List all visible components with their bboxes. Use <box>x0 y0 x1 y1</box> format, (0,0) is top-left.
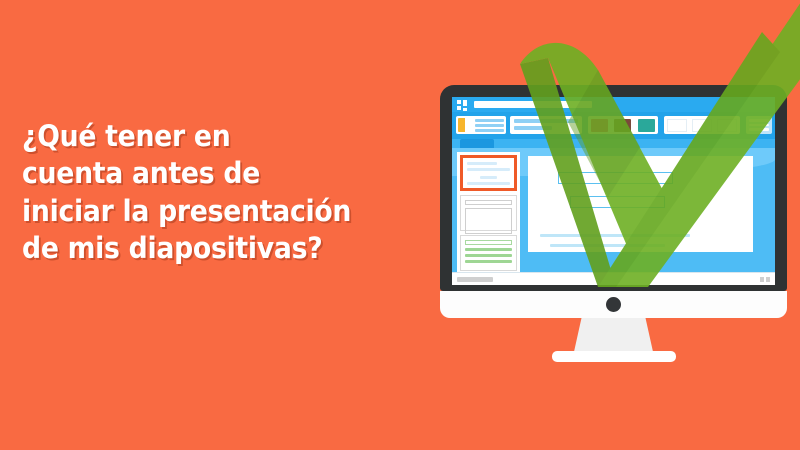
slide-thumbnail-panel[interactable] <box>457 152 520 272</box>
statusbar-view-buttons[interactable] <box>760 277 770 282</box>
slide-layout-button[interactable] <box>456 116 506 134</box>
app-titlebar <box>452 97 775 112</box>
layout-lines-icon <box>475 119 504 132</box>
app-statusbar <box>452 272 775 285</box>
monitor-power-dot <box>606 297 621 312</box>
slide-textbox-1[interactable] <box>558 172 673 184</box>
desktop-monitor-illustration <box>440 85 787 353</box>
poster-canvas: ¿Qué tener en cuenta antes de iniciar la… <box>0 0 800 450</box>
slide-thumbnail-3[interactable] <box>460 235 517 271</box>
titlebar-title-strip <box>474 101 592 108</box>
toolbar-box-2[interactable] <box>692 119 712 132</box>
tab-strip <box>452 139 775 148</box>
slide-line-2 <box>550 244 665 247</box>
side-panel-button[interactable] <box>746 116 772 134</box>
slide-thumbnail-2[interactable] <box>460 195 517 231</box>
monitor-bezel <box>440 85 787 291</box>
tab-active[interactable] <box>460 139 494 148</box>
color-swatch-group[interactable] <box>588 116 658 134</box>
toolbar-text-field[interactable] <box>510 116 582 134</box>
monitor-screen <box>452 97 775 285</box>
monitor-stand-neck <box>574 318 654 354</box>
toolbar-box-3[interactable] <box>717 119 737 132</box>
slide-thumbnail-1[interactable] <box>460 155 517 191</box>
monitor-stand-base <box>552 351 676 362</box>
swatch-brown[interactable] <box>614 119 631 132</box>
app-toolbar <box>452 112 775 139</box>
swatch-teal[interactable] <box>638 119 655 132</box>
grid-icon <box>457 100 468 110</box>
layout-swatch-icon <box>458 118 472 132</box>
statusbar-left-marker <box>457 277 493 282</box>
swatch-magenta[interactable] <box>591 119 608 132</box>
slide-textbox-2[interactable] <box>570 196 665 208</box>
slide-line-1 <box>540 234 690 237</box>
slide-editing-canvas[interactable] <box>528 156 753 252</box>
workspace <box>452 148 775 272</box>
page-title: ¿Qué tener en cuenta antes de iniciar la… <box>22 118 390 268</box>
toolbar-box-group[interactable] <box>664 116 740 134</box>
toolbar-box-1[interactable] <box>667 119 687 132</box>
